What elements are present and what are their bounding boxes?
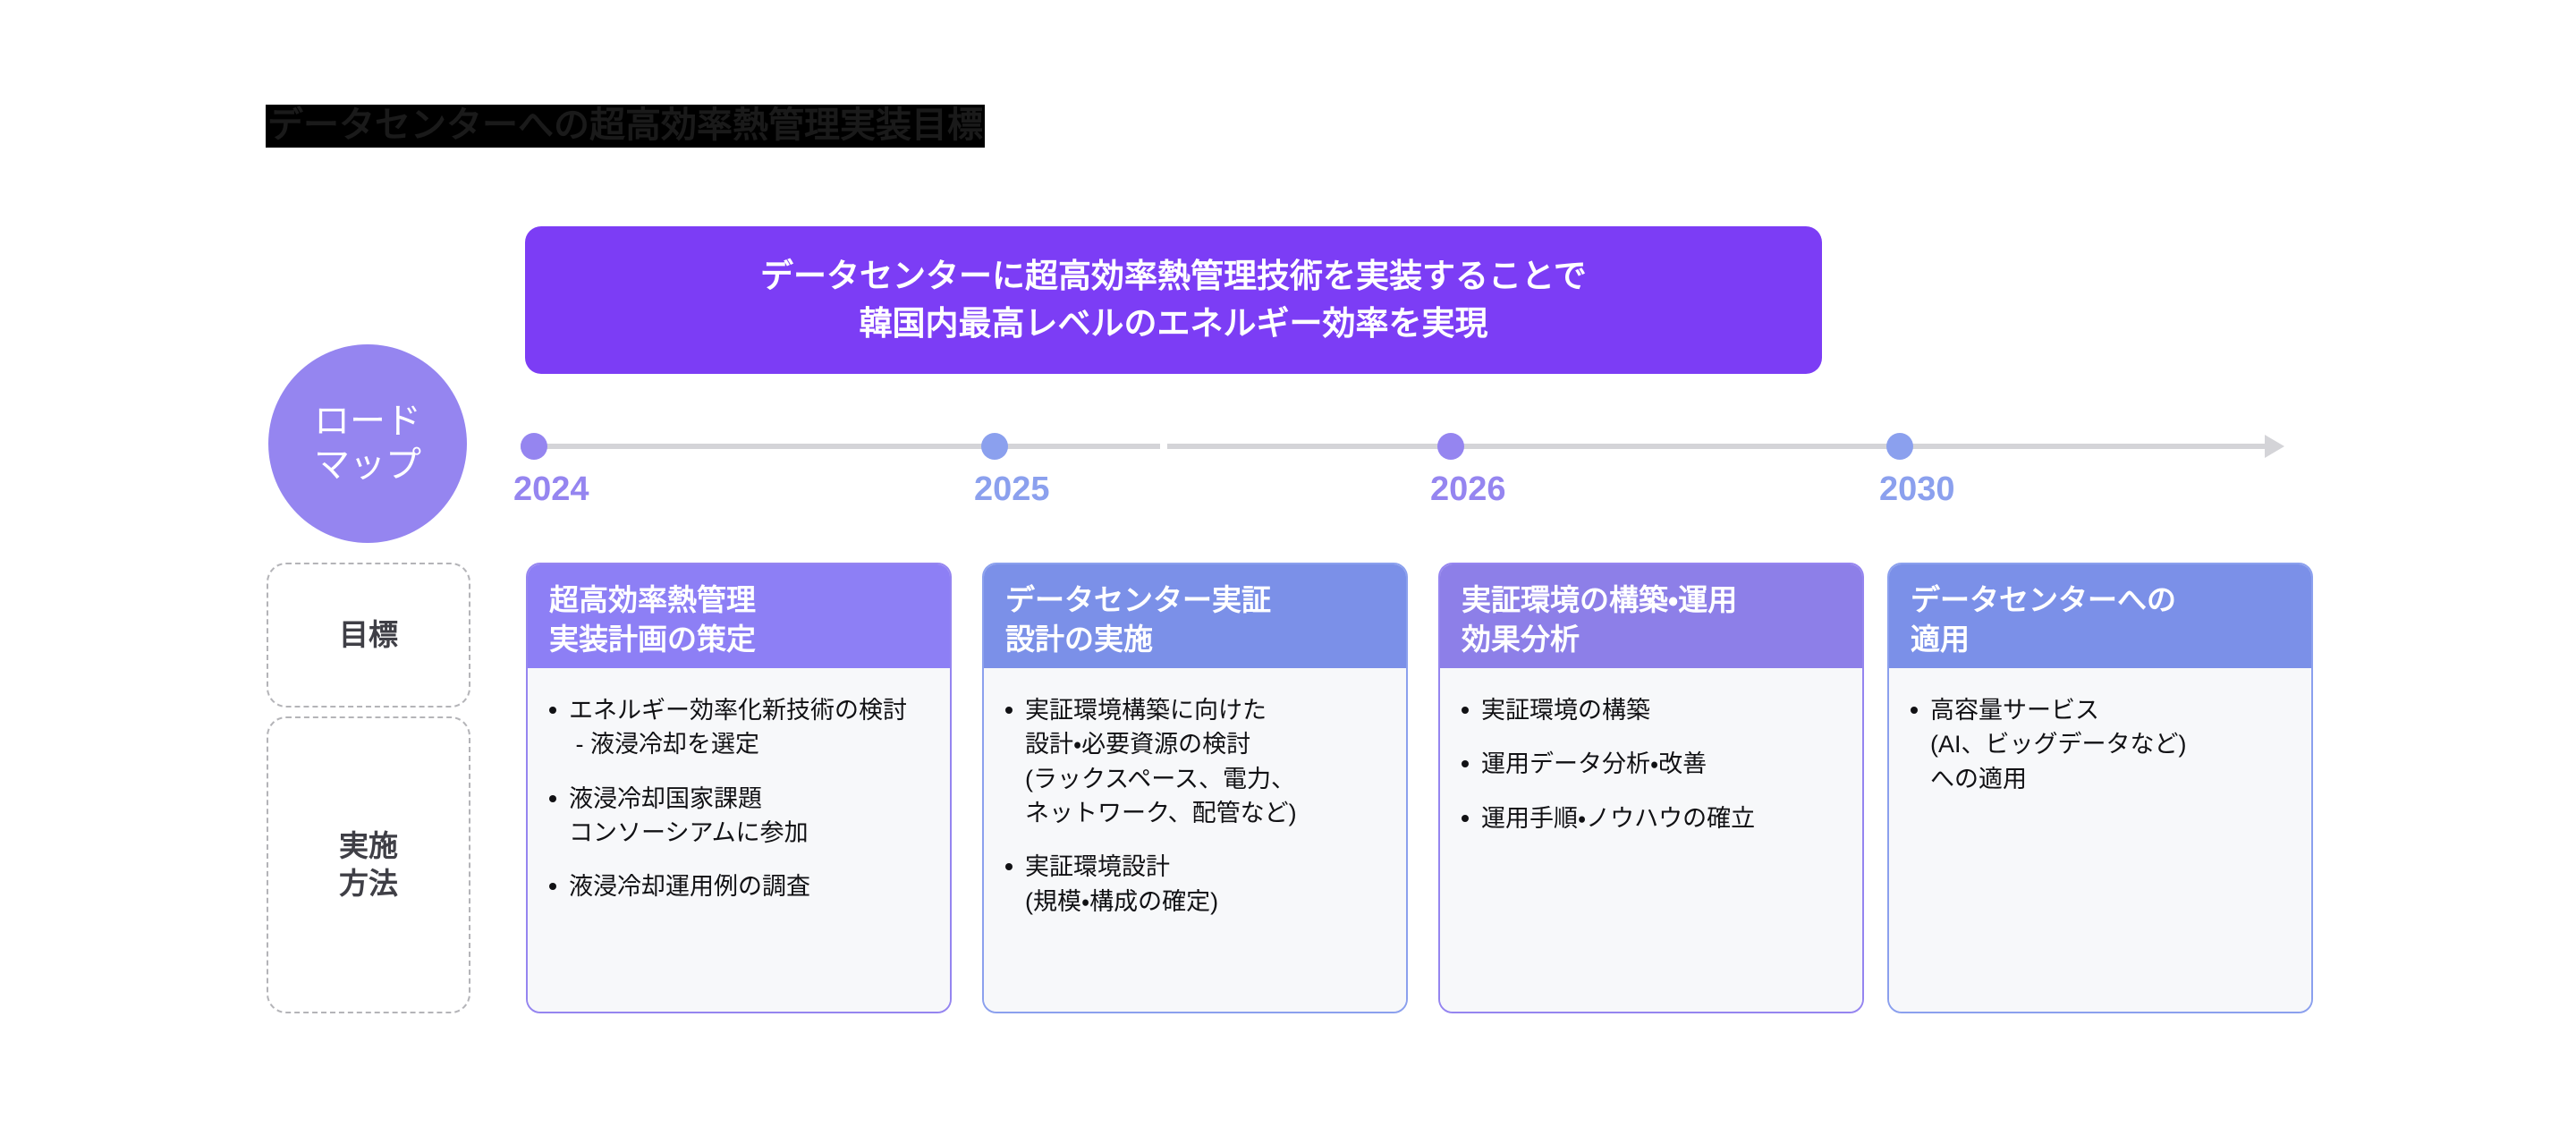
roadmap-badge-line-1: ロード (314, 400, 421, 444)
timeline-dot-2030[interactable] (1886, 433, 1913, 460)
page-title: データセンターへの超高効率熱管理実装目標 (266, 105, 985, 148)
phase-card-2024-header-line-1: 超高効率熱管理 (549, 580, 950, 620)
list-item: 液浸冷却運用例の調査 (549, 869, 937, 903)
phase-card-2024-header: 超高効率熱管理 実装計画の策定 (528, 564, 950, 668)
phase-card-2026-header: 実証環境の構築・運用 効果分析 (1440, 564, 1862, 668)
list-item-line: 実証環境の構築 (1481, 693, 1850, 727)
phase-card-2025-header: データセンター実証 設計の実施 (984, 564, 1406, 668)
list-item-line: - 液浸冷却を選定 (569, 727, 937, 761)
list-item-line: 高容量サービス (1930, 693, 2299, 727)
timeline-year-2025: 2025 (974, 470, 1050, 509)
timeline-dot-2025[interactable] (981, 433, 1008, 460)
roadmap-badge: ロード マップ (268, 344, 467, 543)
bullet-icon (1462, 760, 1469, 767)
list-item: 高容量サービス (AI、ビッグデータなど) への適用 (1911, 693, 2299, 796)
phase-card-2030[interactable]: データセンターへの 適用 高容量サービス (AI、ビッグデータなど) への適用 (1887, 563, 2313, 1013)
list-item: 運用手順・ノウハウの確立 (1462, 801, 1850, 835)
row-label-method-line-2: 方法 (339, 865, 398, 902)
timeline-arrow-head (2265, 435, 2284, 458)
phase-card-2025-body: 実証環境構築に向けた 設計・必要資源の検討 (ラックスペース、電力、 ネットワー… (984, 668, 1406, 1013)
timeline-line-segment-left (521, 444, 1160, 449)
bullet-icon (1462, 815, 1469, 822)
timeline-year-2024: 2024 (513, 470, 589, 509)
phase-card-2030-body: 高容量サービス (AI、ビッグデータなど) への適用 (1889, 668, 2311, 1013)
headline-line-2: 韓国内最高レベルのエネルギー効率を実現 (860, 301, 1488, 348)
phase-card-2030-header-line-1: データセンターへの (1911, 580, 2311, 620)
list-item: 運用データ分析・改善 (1462, 747, 1850, 781)
list-item-line: (AI、ビッグデータなど) (1930, 727, 2299, 761)
timeline-axis: 2024 2025 2026 2030 (501, 429, 2326, 537)
phase-card-2026-body: 実証環境の構築 運用データ分析・改善 運用手順・ノウハウの確立 (1440, 668, 1862, 1013)
bullet-icon (1911, 707, 1918, 714)
row-label-goal-text: 目標 (339, 616, 398, 654)
phase-card-2024-header-line-2: 実装計画の策定 (549, 620, 950, 659)
list-item: エネルギー効率化新技術の検討 - 液浸冷却を選定 (549, 693, 937, 762)
headline-line-1: データセンターに超高効率熱管理技術を実装することで (760, 253, 1587, 301)
list-item-line: 実証環境構築に向けた (1025, 693, 1394, 727)
list-item-line: 液浸冷却国家課題 (569, 782, 937, 816)
list-item-line: 液浸冷却運用例の調査 (569, 869, 937, 903)
list-item-line: エネルギー効率化新技術の検討 (569, 693, 937, 727)
list-item: 実証環境構築に向けた 設計・必要資源の検討 (ラックスペース、電力、 ネットワー… (1005, 693, 1394, 830)
bullet-icon (549, 707, 556, 714)
phase-card-2026-header-line-1: 実証環境の構築・運用 (1462, 580, 1862, 620)
phase-card-2026-header-line-2: 効果分析 (1462, 620, 1862, 659)
phase-card-2026[interactable]: 実証環境の構築・運用 効果分析 実証環境の構築 運用データ分析・改善 運用手順・… (1438, 563, 1864, 1013)
list-item-line: 運用データ分析・改善 (1481, 747, 1850, 781)
roadmap-slide: データセンターへの超高効率熱管理実装目標 データセンターに超高効率熱管理技術を実… (0, 0, 2576, 1127)
headline-banner: データセンターに超高効率熱管理技術を実装することで 韓国内最高レベルのエネルギー… (525, 226, 1822, 374)
roadmap-badge-line-2: マップ (314, 444, 421, 487)
row-label-method-line-1: 実施 (339, 827, 398, 865)
phase-card-2025[interactable]: データセンター実証 設計の実施 実証環境構築に向けた 設計・必要資源の検討 (ラ… (982, 563, 1408, 1013)
list-item-line: 設計・必要資源の検討 (1025, 727, 1394, 761)
list-item: 液浸冷却国家課題 コンソーシアムに参加 (549, 782, 937, 851)
phase-card-2025-header-line-2: 設計の実施 (1005, 620, 1406, 659)
phase-card-2030-header: データセンターへの 適用 (1889, 564, 2311, 668)
list-item-line: コンソーシアムに参加 (569, 816, 937, 850)
list-item-line: (規模・構成の確定) (1025, 885, 1394, 919)
phase-card-2024-body: エネルギー効率化新技術の検討 - 液浸冷却を選定 液浸冷却国家課題 コンソーシア… (528, 668, 950, 1013)
bullet-icon (1462, 707, 1469, 714)
list-item-line: (ラックスペース、電力、 (1025, 762, 1394, 796)
row-label-goal: 目標 (267, 563, 470, 708)
bullet-icon (549, 883, 556, 890)
list-item: 実証環境の構築 (1462, 693, 1850, 727)
timeline-year-2030: 2030 (1879, 470, 1955, 509)
timeline-year-2026: 2026 (1430, 470, 1506, 509)
list-item-line: への適用 (1930, 762, 2299, 796)
bullet-icon (549, 795, 556, 802)
timeline-dot-2024[interactable] (521, 433, 547, 460)
bullet-icon (1005, 863, 1013, 870)
phase-card-2025-header-line-1: データセンター実証 (1005, 580, 1406, 620)
list-item-line: 運用手順・ノウハウの確立 (1481, 801, 1850, 835)
phase-card-2030-header-line-2: 適用 (1911, 620, 2311, 659)
timeline-line-segment-right (1167, 444, 2267, 449)
phase-card-2024[interactable]: 超高効率熱管理 実装計画の策定 エネルギー効率化新技術の検討 - 液浸冷却を選定… (526, 563, 952, 1013)
list-item: 実証環境設計 (規模・構成の確定) (1005, 850, 1394, 919)
row-label-method: 実施 方法 (267, 716, 470, 1013)
timeline-dot-2026[interactable] (1437, 433, 1464, 460)
list-item-line: ネットワーク、配管など) (1025, 796, 1394, 830)
bullet-icon (1005, 707, 1013, 714)
list-item-line: 実証環境設計 (1025, 850, 1394, 884)
